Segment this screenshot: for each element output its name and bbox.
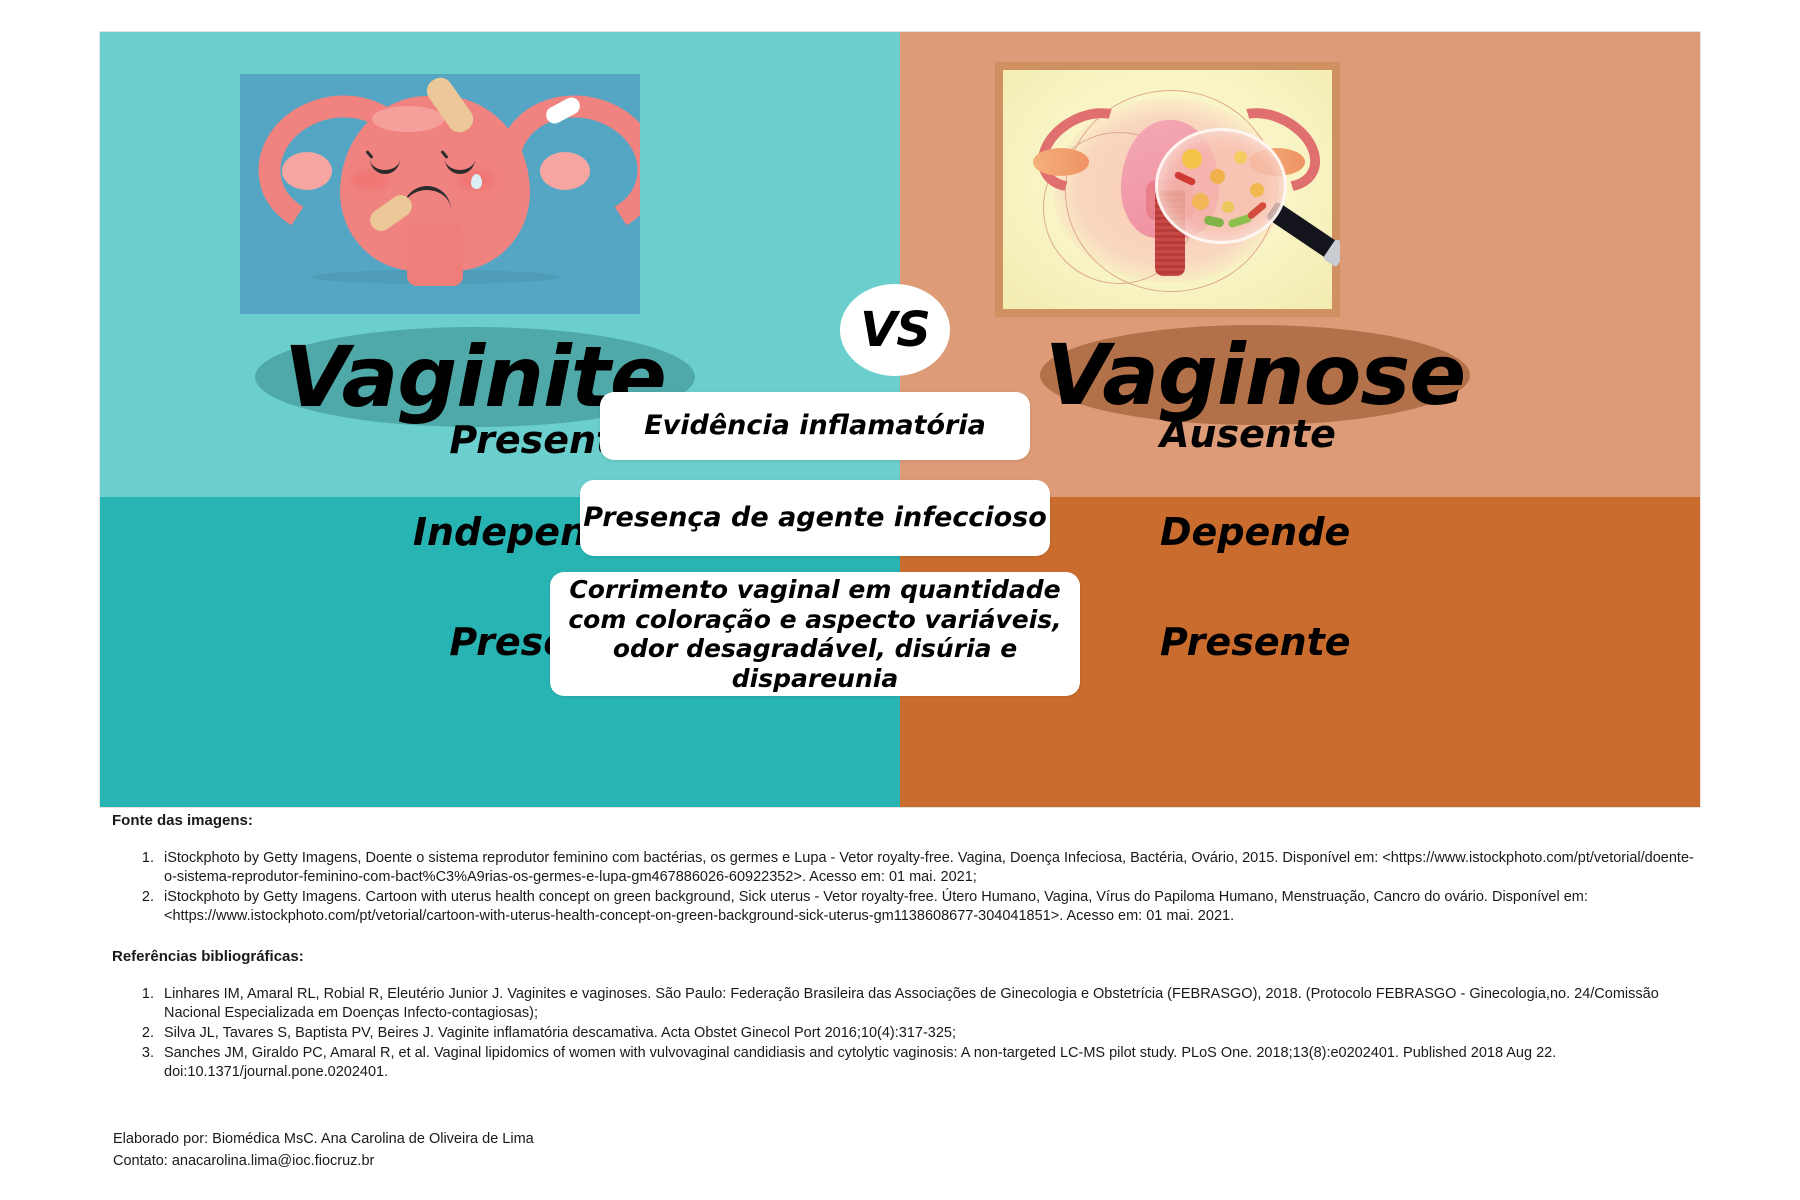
criterion-card-2: Corrimento vaginal em quantidade com col… (550, 572, 1080, 696)
illustration-inner-frame (1003, 70, 1332, 309)
germ-icon (1234, 151, 1247, 164)
comparison-infographic: Vaginite Vaginose VS Presente Independe … (100, 32, 1700, 807)
germ-icon (1250, 183, 1264, 197)
infographic-page: Vaginite Vaginose VS Presente Independe … (0, 0, 1800, 1200)
right-value-0: Ausente (1160, 412, 1560, 456)
germ-icon (1222, 201, 1234, 213)
right-value-2: Presente (1160, 620, 1560, 664)
left-value-1: Independe (220, 510, 640, 554)
list-item: Sanches JM, Giraldo PC, Amaral R, et al.… (158, 1044, 1700, 1082)
ovary-right (540, 152, 590, 190)
sources-list: iStockphoto by Getty Imagens, Doente o s… (158, 849, 1700, 925)
ovary-left (282, 152, 332, 190)
tear-drop (471, 174, 482, 189)
bacillus-icon (1203, 215, 1224, 228)
contact-line: Contato: anacarolina.lima@ioc.fiocruz.br (113, 1150, 534, 1172)
references-heading: Referências bibliográficas: (112, 948, 1700, 965)
list-item: iStockphoto by Getty Imagens, Doente o s… (158, 849, 1700, 887)
criterion-card-1: Presença de agente infeccioso (580, 480, 1050, 556)
references-section: Fonte das imagens: iStockphoto by Getty … (100, 812, 1700, 1083)
vs-badge: VS (840, 284, 950, 376)
section-gap (100, 926, 1700, 948)
author-line: Elaborado por: Biomédica MsC. Ana Caroli… (113, 1128, 534, 1150)
right-title-text: Vaginose (1045, 326, 1466, 424)
germ-icon (1182, 149, 1202, 169)
germ-icon (1192, 193, 1209, 210)
left-value-0: Presente (220, 418, 640, 462)
bacillus-icon (1174, 171, 1197, 187)
germ-icon (1210, 169, 1225, 184)
sad-cartoon-uterus-illustration (240, 74, 640, 314)
cervix (407, 224, 463, 286)
list-item: Silva JL, Tavares S, Baptista PV, Beires… (158, 1024, 1700, 1043)
criterion-card-0: Evidência inflamatória (600, 392, 1030, 460)
list-item: iStockphoto by Getty Imagens. Cartoon wi… (158, 888, 1700, 926)
ovary-left (1033, 148, 1089, 176)
anatomical-uterus-with-magnifier-illustration (995, 62, 1340, 317)
magnifier-lens (1155, 128, 1287, 244)
sources-heading: Fonte das imagens: (112, 812, 1700, 829)
right-value-1: Depende (1160, 510, 1560, 554)
bacillus-icon (1246, 201, 1267, 221)
list-item: Linhares IM, Amaral RL, Robial R, Eleuté… (158, 985, 1700, 1023)
bibliography-list: Linhares IM, Amaral RL, Robial R, Eleuté… (158, 985, 1700, 1081)
uterus-highlight (372, 106, 444, 132)
footer: Elaborado por: Biomédica MsC. Ana Caroli… (113, 1128, 534, 1173)
